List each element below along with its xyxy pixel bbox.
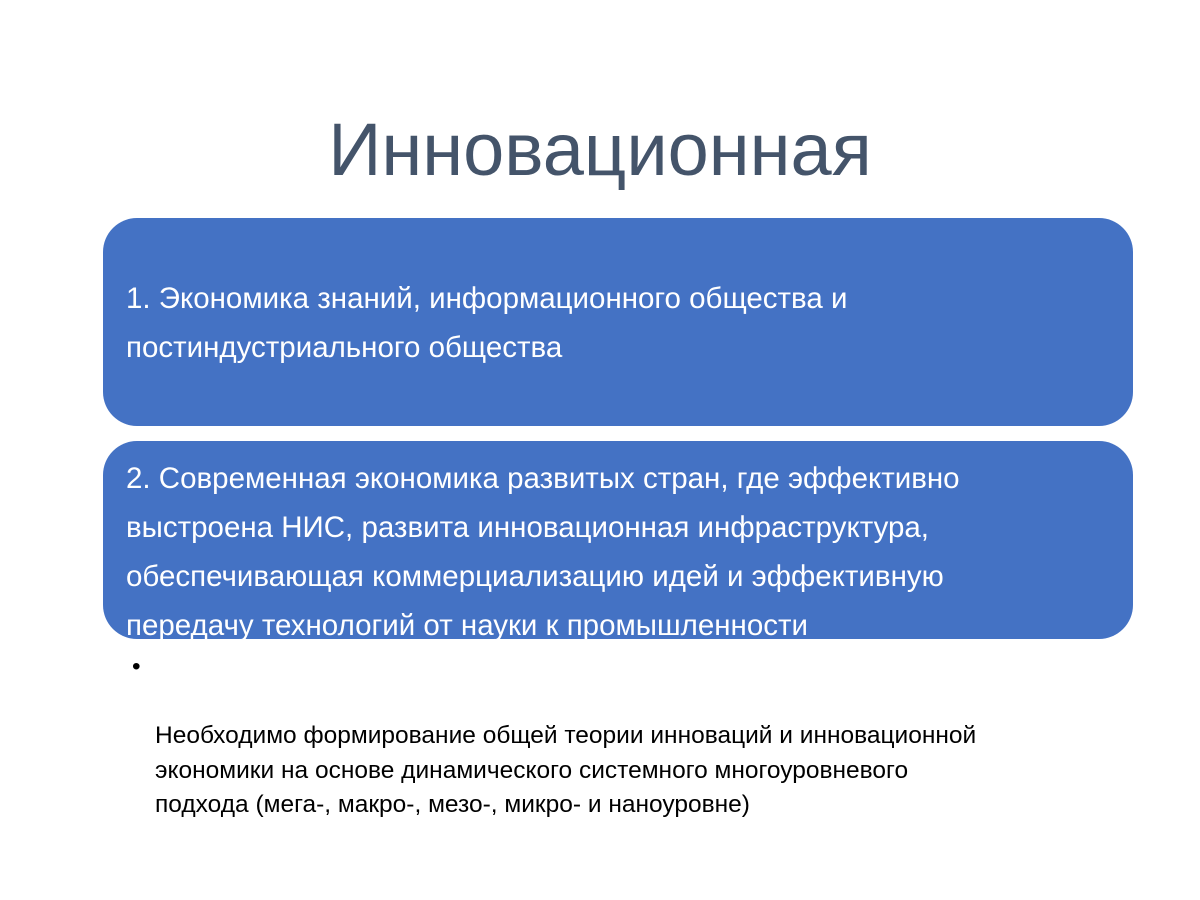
bullet-point-icon: • — [132, 650, 141, 685]
bullet-list: • Необходимо формирование общей теории и… — [124, 650, 1114, 823]
callout-box-1-text: 1. Экономика знаний, информационного общ… — [126, 274, 1115, 372]
list-item: • Необходимо формирование общей теории и… — [124, 650, 1114, 823]
callout-box-2-text: 2. Современная экономика развитых стран,… — [126, 454, 1115, 650]
callout-box-2[interactable]: 2. Современная экономика развитых стран,… — [103, 441, 1133, 639]
presentation-slide: Инновационная экономика 1. Экономика зна… — [0, 0, 1200, 900]
list-item-label: Необходимо формирование общей теории инн… — [155, 722, 976, 818]
callout-box-1[interactable]: 1. Экономика знаний, информационного общ… — [103, 218, 1133, 426]
